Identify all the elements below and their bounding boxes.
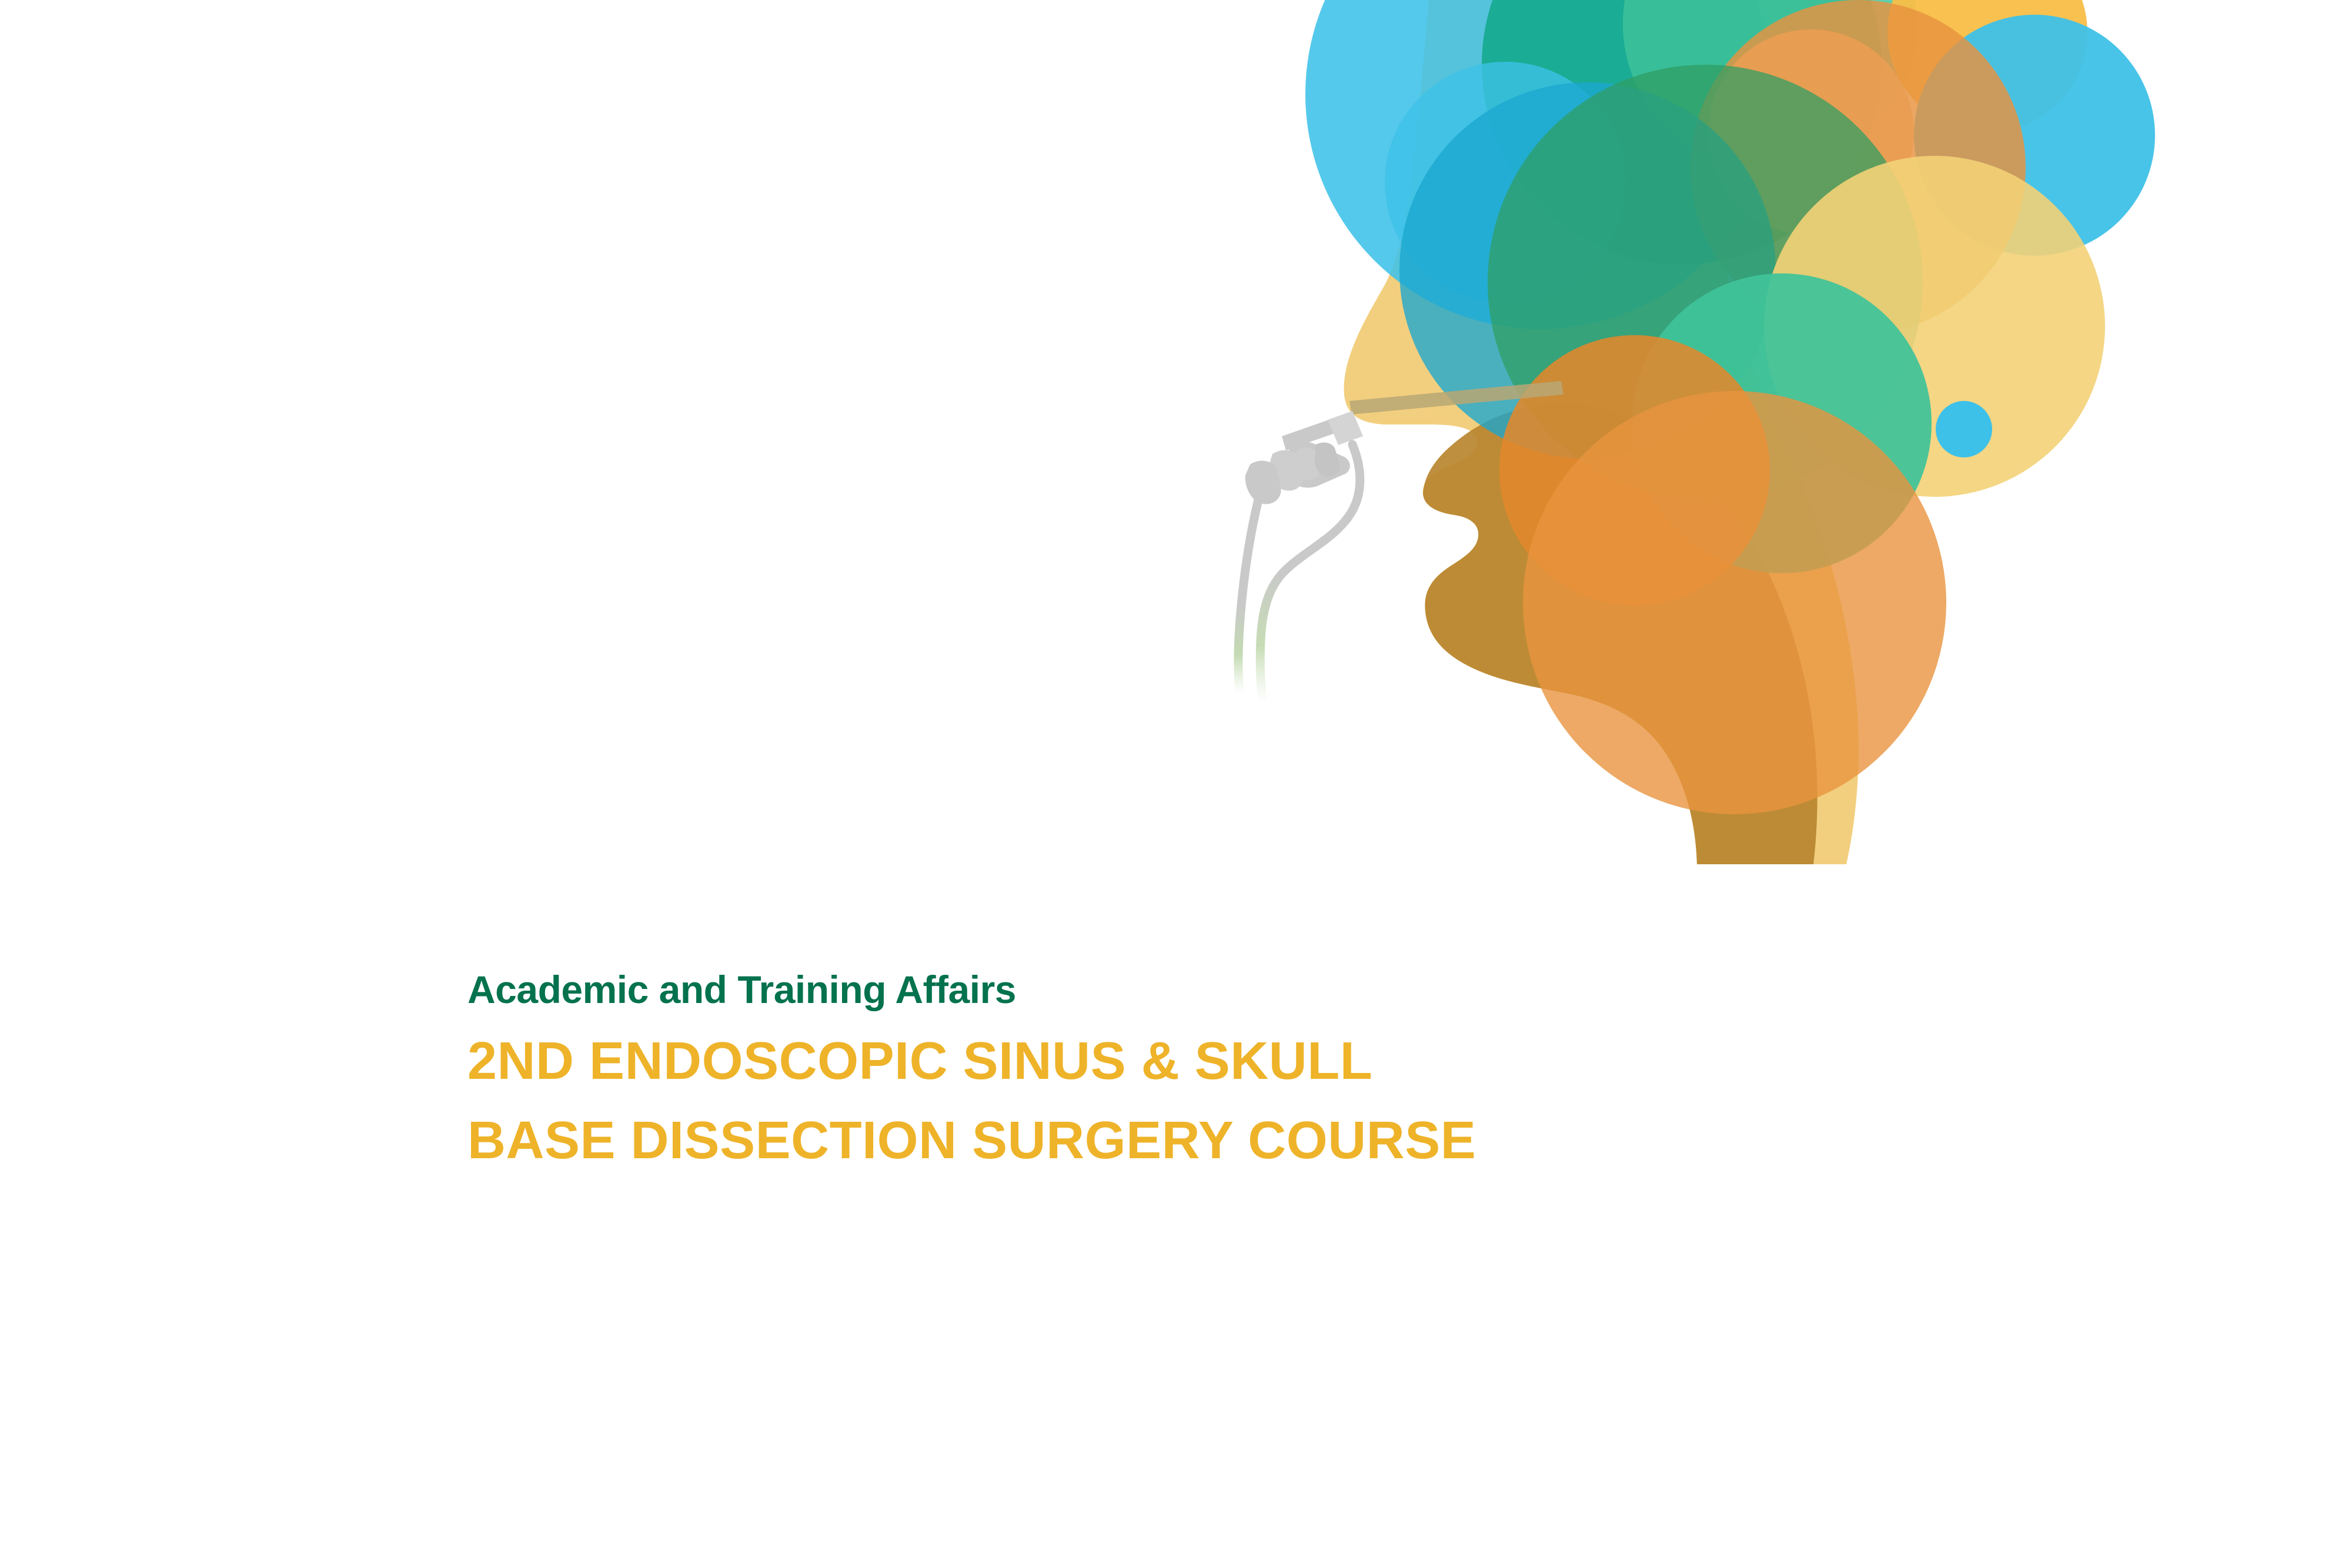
circle-cyan-right	[1914, 15, 2155, 256]
jaw-neck-silhouette	[1423, 404, 1818, 864]
course-title-line-1: 2ND ENDOSCOPIC SINUS & SKULL	[467, 1035, 2055, 1088]
circle-mint-lower	[1632, 273, 1932, 573]
circle-orange-large	[1523, 391, 1946, 814]
endoscope-instrument	[1238, 381, 1563, 703]
endoscopic-surgery-illustration	[0, 0, 2352, 1568]
endoscope-knob-3	[1269, 450, 1304, 491]
head-profile-silhouette	[1344, 0, 1859, 864]
endoscope-shaft	[1282, 412, 1357, 450]
circle-peach	[1708, 29, 1914, 235]
circle-mint-top	[1623, 0, 1917, 170]
endoscope-knob-2	[1315, 443, 1340, 477]
endoscope-light-cable	[1238, 500, 1258, 694]
cover-text-block: Academic and Training Affairs 2ND ENDOSC…	[467, 970, 2055, 1167]
cover-page: Academic and Training Affairs 2ND ENDOSC…	[0, 0, 2352, 1568]
circle-cyan-large	[1305, 0, 1776, 329]
endoscope-ocular-cup	[1245, 461, 1281, 504]
course-title-line-2: BASE DISSECTION SURGERY COURSE	[467, 1114, 2055, 1167]
endoscope-collar	[1328, 411, 1363, 445]
endoscope-camera-cable	[1260, 444, 1360, 703]
endoscope-shaft-intranasal	[1349, 381, 1563, 414]
circle-cyan-dot	[1936, 401, 1992, 457]
circle-green-mid	[1488, 65, 1923, 500]
circle-yellow-top	[1887, 0, 2087, 132]
circle-orange-jaw	[1499, 335, 1770, 606]
circle-cluster	[1305, 0, 2155, 814]
department-eyebrow: Academic and Training Affairs	[467, 970, 2055, 1009]
endoscope-eyepiece	[1288, 442, 1350, 488]
circle-yellow-pale	[1764, 156, 2105, 497]
circle-cyan-deep	[1399, 82, 1776, 459]
circle-cyan-small-left	[1385, 62, 1626, 303]
endoscope-knob-1	[1295, 447, 1320, 480]
circle-orange-upper	[1690, 0, 2026, 335]
circle-teal-large	[1482, 0, 1882, 265]
